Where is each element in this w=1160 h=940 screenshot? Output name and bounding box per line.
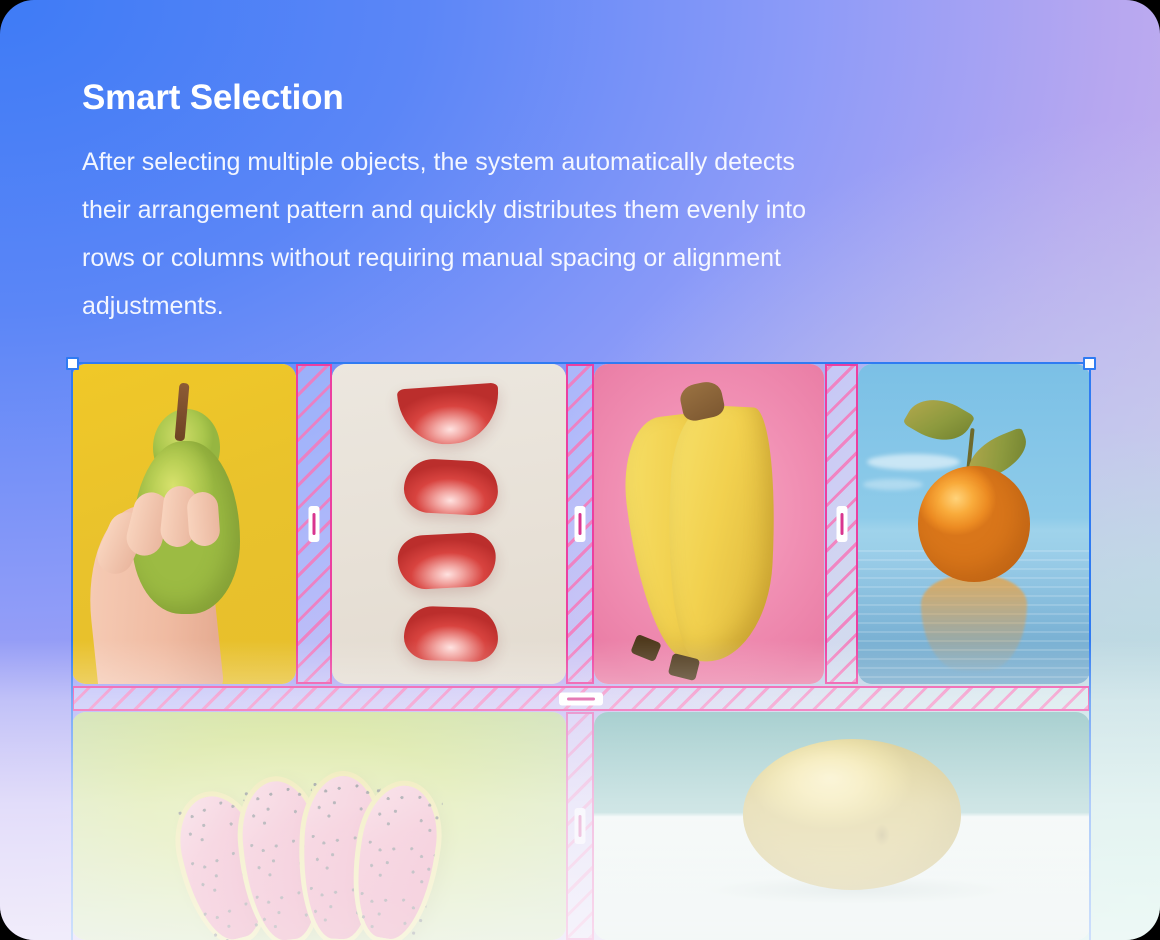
selection-handle-top-right[interactable] [1083,357,1096,370]
page-description: After selecting multiple objects, the sy… [82,138,1057,330]
selection-handle-top-left[interactable] [66,357,79,370]
smart-selection-panel: Smart Selection After selecting multiple… [0,0,1160,940]
page-title: Smart Selection [82,78,1072,118]
header: Smart Selection After selecting multiple… [82,78,1072,330]
selection-bounding-box[interactable] [71,362,1091,940]
